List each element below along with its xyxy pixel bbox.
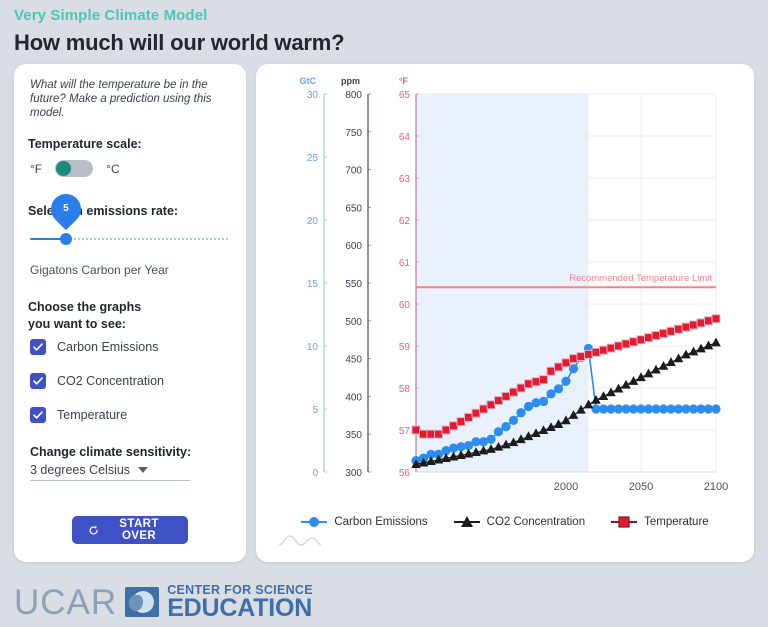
data-point (645, 334, 653, 342)
data-point (697, 319, 705, 327)
start-over-label: START OVER (106, 518, 172, 542)
data-point (509, 416, 518, 425)
axis-tick-emissions: 5 (312, 405, 318, 416)
slider-value-text: 5 (63, 204, 69, 214)
data-point (592, 348, 600, 356)
axis-tick-temperature: 63 (399, 174, 411, 185)
axis-tick-temperature: 56 (399, 468, 411, 479)
ucar-wordmark: UCAR (14, 585, 117, 620)
axis-tick-temperature: 58 (399, 384, 411, 395)
data-point (615, 342, 623, 350)
checkbox-temperature[interactable]: Temperature (30, 407, 232, 423)
x-axis-tick: 2000 (554, 481, 578, 493)
data-point (517, 384, 525, 392)
data-point (427, 430, 435, 438)
scale-fahrenheit-label: °F (30, 162, 42, 176)
climate-sensitivity-label: Change climate sensitivity: (30, 445, 232, 459)
data-point (547, 367, 555, 375)
data-point (457, 418, 465, 426)
climate-model-app: Very Simple Climate Model How much will … (0, 0, 768, 627)
legend-item-temperature[interactable]: Temperature (611, 516, 709, 528)
axis-tick-temperature: 59 (399, 342, 411, 353)
recommended-limit-label: Recommended Temperature Limit (569, 273, 712, 284)
axis-tick-concentration: 500 (345, 317, 362, 328)
intro-text: What will the temperature be in the futu… (30, 78, 230, 120)
legend-item-carbon-emissions[interactable]: Carbon Emissions (301, 516, 427, 528)
checkbox-label: CO2 Concentration (57, 374, 164, 388)
data-point (516, 408, 525, 417)
axis-tick-temperature: 57 (399, 426, 411, 437)
data-point (450, 422, 458, 430)
axis-tick-temperature: 61 (399, 258, 411, 269)
data-point (494, 427, 503, 436)
data-point (682, 323, 690, 331)
data-point (486, 435, 495, 444)
data-point (660, 329, 668, 337)
axis-tick-emissions: 30 (307, 90, 319, 101)
axis-tick-temperature: 65 (399, 90, 411, 101)
legend-circle-marker (301, 516, 327, 528)
axis-tick-concentration: 350 (345, 430, 362, 441)
chart-host: GtC051015202530ppm3003504004505005506006… (264, 72, 746, 556)
cse-line2: EDUCATION (167, 596, 313, 621)
chevron-down-icon (138, 467, 148, 473)
axis-tick-concentration: 650 (345, 203, 362, 214)
checkbox-label: Temperature (57, 408, 127, 422)
checkmark-icon (30, 407, 46, 423)
legend-item-co2-concentration[interactable]: CO2 Concentration (454, 516, 585, 528)
legend-triangle-marker (454, 516, 480, 528)
choose-graphs-line2: you want to see: (28, 316, 232, 333)
temperature-scale-toggle[interactable] (55, 160, 93, 177)
page-title: How much will our world warm? (14, 28, 754, 58)
data-point (487, 401, 495, 409)
data-point (420, 430, 428, 438)
axis-tick-concentration: 450 (345, 355, 362, 366)
main-stage: What will the temperature be in the futu… (0, 58, 768, 562)
toggle-knob (56, 161, 71, 176)
checkbox-co2-concentration[interactable]: CO2 Concentration (30, 373, 232, 389)
x-axis-tick: 2050 (629, 481, 653, 493)
scale-celsius-label: °C (106, 162, 119, 176)
controls-panel: What will the temperature be in the futu… (14, 64, 246, 562)
axis-unit-temperature: °F (399, 76, 409, 86)
checkmark-icon (30, 339, 46, 355)
checkbox-carbon-emissions[interactable]: Carbon Emissions (30, 339, 232, 355)
page-header: Very Simple Climate Model How much will … (0, 0, 768, 58)
axis-tick-emissions: 10 (307, 342, 319, 353)
data-point (525, 380, 533, 388)
axis-unit-concentration: ppm (341, 76, 360, 86)
data-point (667, 327, 675, 335)
data-point (502, 392, 510, 400)
data-point (652, 332, 660, 340)
globe-icon (125, 587, 159, 617)
wave-decoration-icon (278, 532, 322, 548)
data-point (495, 397, 503, 405)
chart-legend: Carbon Emissions CO2 Concentration (264, 516, 746, 528)
data-point (585, 350, 593, 358)
axis-tick-temperature: 64 (399, 132, 411, 143)
data-point (570, 355, 578, 363)
axis-tick-emissions: 25 (307, 153, 319, 164)
data-point (711, 404, 720, 413)
slider-value-bubble: 5 (45, 188, 87, 230)
data-point (540, 376, 548, 384)
data-point (555, 363, 563, 371)
app-eyebrow-title: Very Simple Climate Model (14, 6, 754, 26)
emissions-units-caption: Gigatons Carbon per Year (30, 263, 232, 277)
axis-tick-emissions: 0 (312, 468, 318, 479)
data-point (607, 344, 615, 352)
data-point (562, 359, 570, 367)
data-point (501, 422, 510, 431)
checkbox-label: Carbon Emissions (57, 340, 158, 354)
data-point (472, 409, 480, 417)
data-point (412, 426, 420, 434)
emissions-rate-block: Select an emissions rate: 5 (28, 203, 232, 251)
climate-sensitivity-value: 3 degrees Celsius (30, 463, 130, 477)
climate-sensitivity-select[interactable]: 3 degrees Celsius (30, 463, 190, 481)
historical-band (416, 94, 589, 472)
data-point (675, 325, 683, 333)
data-point (690, 321, 698, 329)
center-for-science-education-text: CENTER FOR SCIENCE EDUCATION (167, 584, 313, 622)
axis-tick-concentration: 550 (345, 279, 362, 290)
data-point (630, 338, 638, 346)
axis-tick-emissions: 15 (307, 279, 319, 290)
data-point (539, 397, 548, 406)
data-point (600, 346, 608, 354)
data-point (637, 336, 645, 344)
data-point (480, 405, 488, 413)
data-point (442, 426, 450, 434)
data-point (577, 353, 585, 361)
data-point (510, 388, 518, 396)
data-point (435, 430, 443, 438)
choose-graphs-line1: Choose the graphs (28, 299, 232, 316)
data-point (705, 317, 713, 325)
data-point (712, 315, 720, 323)
axis-tick-concentration: 700 (345, 166, 362, 177)
axis-tick-concentration: 400 (345, 392, 362, 403)
data-point (546, 389, 555, 398)
legend-label: Carbon Emissions (334, 516, 427, 528)
axis-unit-emissions: GtC (300, 76, 317, 86)
legend-label: Temperature (644, 516, 709, 528)
refresh-icon (88, 524, 99, 537)
checkmark-icon (30, 373, 46, 389)
axis-tick-temperature: 62 (399, 216, 411, 227)
start-over-button[interactable]: START OVER (72, 516, 188, 544)
ucar-logo: UCAR CENTER FOR SCIENCE EDUCATION (14, 584, 313, 622)
axis-tick-emissions: 20 (307, 216, 319, 227)
data-point (532, 378, 540, 386)
data-point (465, 413, 473, 421)
data-point (711, 338, 721, 347)
temperature-scale-label: Temperature scale: (28, 136, 232, 152)
legend-label: CO2 Concentration (487, 516, 585, 528)
slider-thumb[interactable] (60, 233, 72, 245)
chart-panel: GtC051015202530ppm3003504004505005506006… (256, 64, 754, 562)
axis-tick-concentration: 300 (345, 468, 362, 479)
data-point (554, 384, 563, 393)
temperature-scale-control[interactable]: °F °C (30, 160, 232, 177)
climate-chart[interactable]: GtC051015202530ppm3003504004505005506006… (264, 72, 744, 512)
axis-tick-temperature: 60 (399, 300, 411, 311)
legend-square-marker (611, 516, 637, 528)
axis-tick-concentration: 800 (345, 90, 362, 101)
axis-tick-concentration: 750 (345, 128, 362, 139)
emissions-rate-slider[interactable]: 5 (28, 229, 232, 251)
data-point (622, 340, 630, 348)
x-axis-tick: 2100 (704, 481, 728, 493)
choose-graphs-label: Choose the graphs you want to see: (28, 299, 232, 333)
data-point (561, 377, 570, 386)
axis-tick-concentration: 600 (345, 241, 362, 252)
